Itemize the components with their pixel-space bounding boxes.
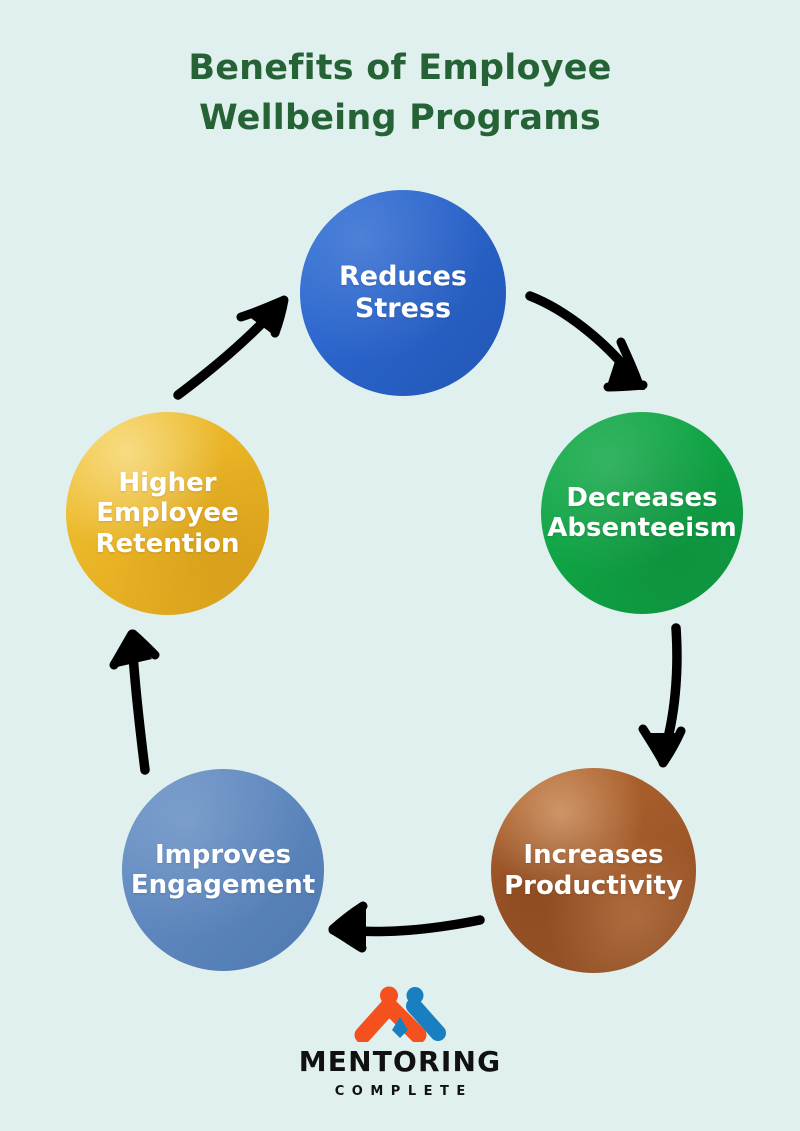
logo-tagline: COMPLETE: [0, 1085, 800, 1098]
cycle-node-label: Improves Engagement: [131, 840, 315, 901]
cycle-node-label: Reduces Stress: [339, 261, 467, 324]
arrow-absenteeism-to-productivity-icon: [643, 628, 681, 766]
arrow-retention-to-stress-icon: [178, 297, 286, 395]
arrow-productivity-to-engagement-icon: [330, 906, 480, 950]
cycle-node-label: Decreases Absenteeism: [547, 483, 737, 544]
mentoring-complete-logo-icon: [352, 986, 448, 1042]
cycle-diagram: Reduces Stress Decreases Absenteeism Inc…: [0, 0, 800, 1131]
cycle-node-label: Increases Productivity: [504, 840, 683, 901]
infographic-poster: Benefits of Employee Wellbeing Programs: [0, 0, 800, 1131]
cycle-node-improves-engagement[interactable]: Improves Engagement: [122, 769, 324, 971]
cycle-node-higher-employee-retention[interactable]: Higher Employee Retention: [66, 412, 269, 615]
logo-wordmark: MENTORING: [0, 1048, 800, 1076]
arrow-stress-to-absenteeism-icon: [530, 296, 645, 390]
cycle-node-decreases-absenteeism[interactable]: Decreases Absenteeism: [541, 412, 743, 614]
cycle-node-increases-productivity[interactable]: Increases Productivity: [491, 768, 696, 973]
arrow-engagement-to-retention-icon: [114, 631, 155, 770]
brand-logo: MENTORING COMPLETE: [0, 986, 800, 1098]
cycle-node-reduces-stress[interactable]: Reduces Stress: [300, 190, 506, 396]
cycle-node-label: Higher Employee Retention: [96, 468, 240, 559]
